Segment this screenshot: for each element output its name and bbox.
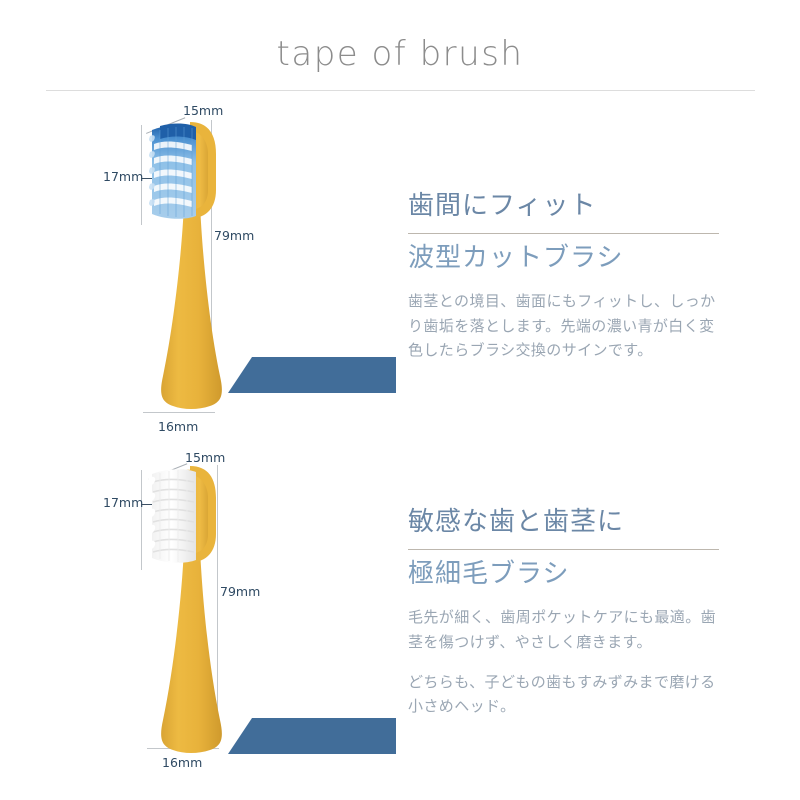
- section-wave-cut-brush: 歯間にフィット 波型カットブラシ 歯茎との境目、歯面にもフィットし、しっかり歯垢…: [408, 190, 728, 362]
- toothbrush-head-ultrafine: [140, 462, 250, 772]
- section-1-heading-rule: [408, 233, 719, 234]
- section-1-heading-top: 歯間にフィット: [408, 190, 728, 223]
- brush-bristles-fine-2: [147, 469, 196, 563]
- dimension-head-height-1: 17mm: [103, 169, 143, 184]
- page-title: tape of brush: [0, 34, 800, 74]
- dimension-head-height-2: 17mm: [103, 495, 143, 510]
- product-spec-page: tape of brush 15mm 17mm 9mm 79mm 16mm: [0, 0, 800, 800]
- section-2-body-extra: どちらも、子どもの歯もすみずみまで磨ける小さめヘッド。: [408, 670, 728, 719]
- accent-bar-2: [228, 718, 396, 754]
- section-2-heading-main: 極細毛ブラシ: [408, 558, 728, 592]
- section-2-heading-rule: [408, 549, 719, 550]
- brush-bristles-wave-1: [149, 123, 196, 218]
- accent-bar-1: [228, 357, 396, 393]
- dimension-width-top-1: 15mm: [183, 103, 223, 118]
- toothbrush-head-wave-cut: [140, 118, 250, 428]
- brush-handle-2: [161, 548, 222, 753]
- brush-handle-1: [161, 204, 222, 409]
- section-ultrafine-brush: 敏感な歯と歯茎に 極細毛ブラシ 毛先が細く、歯周ポケットケアにも最適。歯茎を傷つ…: [408, 506, 728, 718]
- section-2-heading-top: 敏感な歯と歯茎に: [408, 506, 728, 539]
- section-1-heading-main: 波型カットブラシ: [408, 242, 728, 276]
- section-1-body: 歯茎との境目、歯面にもフィットし、しっかり歯垢を落とします。先端の濃い青が白く変…: [408, 289, 728, 362]
- header-divider: [46, 90, 755, 91]
- section-2-body: 毛先が細く、歯周ポケットケアにも最適。歯茎を傷つけず、やさしく磨きます。: [408, 605, 728, 654]
